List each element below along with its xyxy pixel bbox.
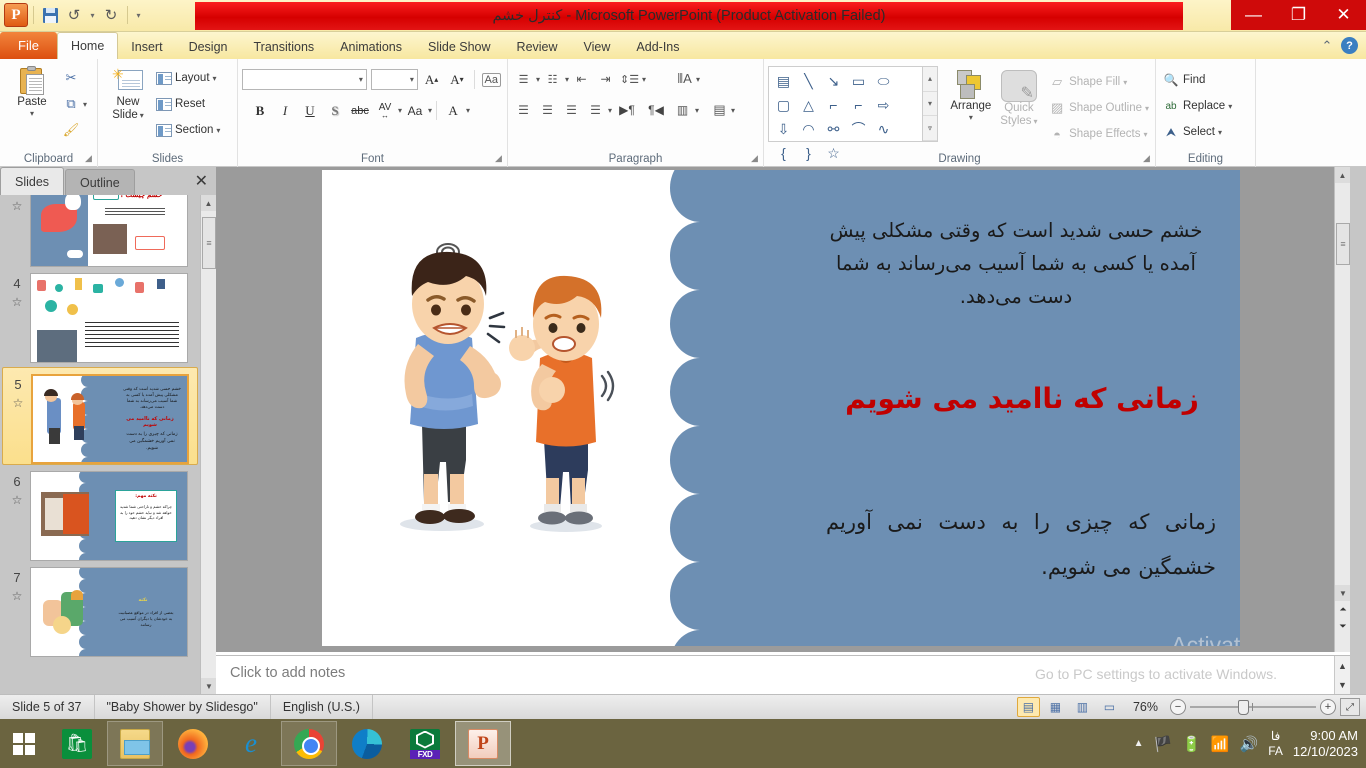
tab-slides[interactable]: Slides xyxy=(0,167,64,195)
paragraph-dialog-launcher[interactable]: ◢ xyxy=(749,153,760,164)
shape-outline-button[interactable]: ▨Shape Outline▾ xyxy=(1046,95,1151,121)
ribbon: Paste ▾ ✂ ⧉▾ 🖌 Clipboard ◢ ✳ New Slide xyxy=(0,59,1366,167)
clock-date: 12/10/2023 xyxy=(1293,744,1358,760)
quick-styles-button[interactable]: Quick Styles ▾ xyxy=(996,66,1042,128)
replace-icon: ab xyxy=(1162,97,1180,115)
change-case-button[interactable]: Aa xyxy=(403,99,427,122)
center-button[interactable]: ☰ xyxy=(536,99,559,121)
font-color-label: A xyxy=(448,103,457,119)
font-name-input[interactable]: ▾ xyxy=(242,69,367,90)
ltr-button[interactable]: ▶¶ xyxy=(613,99,641,121)
slide-vertical-scrollbar[interactable]: ▲ ≡ ▼ ⏶ ⏷ xyxy=(1334,167,1350,652)
shape-cloud-icon[interactable]: ◠ xyxy=(796,117,821,141)
notes-scroll-down[interactable]: ▼ xyxy=(1335,675,1350,694)
slide-index-label: 4 xyxy=(4,276,30,291)
language-label[interactable]: English (U.S.) xyxy=(271,695,373,720)
fit-slide-to-window-button[interactable]: ⤢ xyxy=(1340,698,1360,716)
shapes-more[interactable]: ⩔ xyxy=(923,116,937,141)
tab-review[interactable]: Review xyxy=(504,34,571,59)
clear-formatting-button[interactable]: Aa xyxy=(480,68,503,91)
thumbnail-canvas: نکته مهم: چراکه خشم و ناراحتی شما شدید خ… xyxy=(30,471,188,561)
powerpoint-icon: P xyxy=(468,729,498,759)
save-button[interactable] xyxy=(39,4,61,26)
signal-icon[interactable]: 📶 xyxy=(1211,735,1230,753)
ribbon-group-editing: 🔍Find abReplace▾ ⮝Select▾ Editing xyxy=(1156,59,1256,167)
bullets-caret[interactable]: ▾ xyxy=(536,75,540,84)
slide-thumbnail-5[interactable]: 5 ☆ خشم حسی شدید است که وقتی xyxy=(2,367,198,465)
clock[interactable]: 9:00 AM 12/10/2023 xyxy=(1293,728,1358,760)
new-slide-button[interactable]: ✳ New Slide ▾ xyxy=(102,62,154,148)
group-label-drawing: Drawing xyxy=(764,153,1155,165)
notes-scroll-up[interactable]: ▲ xyxy=(1335,656,1350,675)
slide-index-label: 7 xyxy=(4,570,30,585)
select-button[interactable]: ⮝Select▾ xyxy=(1160,119,1251,145)
slideshow-view-button[interactable]: ▭ xyxy=(1098,697,1121,717)
clear-formatting-icon: Aa xyxy=(482,73,501,87)
cut-button[interactable]: ✂ xyxy=(60,65,89,91)
increase-indent-icon: ⇥ xyxy=(601,72,611,86)
slide-body-text[interactable]: خشم حسی شدید است که وقتی مشکلی پیش آمده … xyxy=(816,214,1216,313)
shape-effects-button[interactable]: ◓Shape Effects▾ xyxy=(1046,121,1151,147)
show-hidden-icons-button[interactable]: ▲ xyxy=(1134,738,1144,749)
increase-indent-button[interactable]: ⇥ xyxy=(594,68,617,90)
thumbnail-canvas xyxy=(30,273,188,363)
slide-number-3: 3 ☆ xyxy=(4,195,30,213)
scroll-down-button[interactable]: ▼ xyxy=(1335,585,1351,601)
firefox-icon xyxy=(178,729,208,759)
shape-effects-label: Shape Effects xyxy=(1069,128,1140,140)
thumbnail-canvas: خشم حسی شدید است که وقتی مشکلی پیش آمده … xyxy=(31,374,189,464)
reset-button[interactable]: Reset xyxy=(154,91,222,117)
ribbon-group-clipboard: Paste ▾ ✂ ⧉▾ 🖌 Clipboard ◢ xyxy=(0,59,98,167)
window-title-container: کنترل خشم - Microsoft PowerPoint (Produc… xyxy=(0,2,1366,30)
shape-oval-icon[interactable]: ⬭ xyxy=(871,69,896,93)
text-direction-icon: ⦀A xyxy=(677,71,691,87)
tab-add-ins[interactable]: Add-Ins xyxy=(623,34,692,59)
slide-thumbnail-4[interactable]: 4 ☆ xyxy=(0,267,200,363)
shape-elbow-arrow-icon[interactable]: ⌐ xyxy=(846,93,871,117)
redo-button[interactable]: ↻ xyxy=(100,4,122,26)
right-gutter xyxy=(1350,167,1366,694)
shape-fill-caret[interactable]: ▾ xyxy=(1123,78,1127,87)
clock-time: 9:00 AM xyxy=(1293,728,1358,744)
shape-outline-label: Shape Outline xyxy=(1069,102,1142,114)
shape-effects-icon: ◓ xyxy=(1048,125,1066,143)
tab-file[interactable]: File xyxy=(0,32,57,59)
font-dialog-launcher[interactable]: ◢ xyxy=(493,153,504,164)
arrange-label: Arrange xyxy=(950,100,991,113)
undo-button[interactable]: ↺ xyxy=(63,4,85,26)
battery-icon[interactable]: 🔋 xyxy=(1182,735,1201,753)
align-text-icon: ▤ xyxy=(713,102,725,118)
language-native: فا xyxy=(1268,729,1283,744)
slides-scroll-down-button[interactable]: ▼ xyxy=(201,678,217,694)
tab-transitions[interactable]: Transitions xyxy=(240,34,327,59)
align-text-button[interactable]: ▤ xyxy=(708,99,731,121)
align-left-button[interactable]: ☰ xyxy=(512,99,535,121)
shape-textbox-icon[interactable]: ▤ xyxy=(771,69,796,93)
divider xyxy=(33,6,34,24)
windows-logo-icon xyxy=(13,733,35,755)
title-bar: P ↺ ▾ ↻ ▾ کنترل خشم - Microsoft PowerPoi… xyxy=(0,0,1366,32)
previous-slide-button[interactable]: ⏶ xyxy=(1335,601,1351,618)
text-direction-button[interactable]: ⦀A xyxy=(673,68,696,90)
notes-placeholder[interactable]: Click to add notes xyxy=(230,665,345,681)
find-button[interactable]: 🔍Find xyxy=(1160,67,1251,93)
bullets-icon: ☰ xyxy=(519,73,529,86)
minimize-button[interactable]: — xyxy=(1231,0,1276,30)
ribbon-group-drawing: ▤ ╲ ↘ ▭ ⬭ ▢ △ ⌐ ⌐ ⇨ ⇩ ◠ ⚯ ⌒ ∿ xyxy=(764,59,1156,167)
new-slide-label-2: Slide xyxy=(112,109,138,122)
tab-insert[interactable]: Insert xyxy=(118,34,175,59)
clipboard-dialog-launcher[interactable]: ◢ xyxy=(83,153,94,164)
slide-index-label: 5 xyxy=(5,377,31,392)
section-caret[interactable]: ▾ xyxy=(216,126,220,135)
copy-button[interactable]: ⧉▾ xyxy=(60,91,89,117)
shape-triangle-icon[interactable]: △ xyxy=(796,93,821,117)
quick-styles-icon xyxy=(1001,70,1037,102)
ribbon-group-slides: ✳ New Slide ▾ Layout▾ Reset Section▾ Sli… xyxy=(98,59,238,167)
slide-number-6: 6 ☆ xyxy=(4,471,30,507)
shape-fill-button[interactable]: ▱Shape Fill▾ xyxy=(1046,69,1151,95)
shape-fill-icon: ▱ xyxy=(1048,73,1066,91)
group-label-font: Font xyxy=(238,153,507,165)
numbering-caret[interactable]: ▾ xyxy=(565,75,569,84)
numbering-button[interactable]: ☷ xyxy=(541,68,564,90)
status-bar-right: ▤ ▦ ▥ ▭ 76% − + ⤢ xyxy=(1017,697,1366,717)
tab-home[interactable]: Home xyxy=(57,32,118,59)
slide-number-7: 7 ☆ xyxy=(4,567,30,603)
slide-thumbnail-6[interactable]: 6 ☆ نکته مهم: چراکه خشم و ناراحتی شما شد… xyxy=(0,465,200,561)
animation-star-icon: ☆ xyxy=(5,396,31,410)
slides-pane: Slides Outline ✕ 3 ☆ خشم چیست ؟ xyxy=(0,167,216,694)
thumbnail-canvas: نکته بعضی از افراد در مواقع عصبانیت به خ… xyxy=(30,567,188,657)
tab-design[interactable]: Design xyxy=(176,34,241,59)
shape-rectangle-icon[interactable]: ▭ xyxy=(846,69,871,93)
animation-star-icon: ☆ xyxy=(4,295,30,309)
arrange-button[interactable]: Arrange ▾ xyxy=(946,66,996,122)
scroll-up-button[interactable]: ▲ xyxy=(1335,167,1350,183)
zoom-level-label[interactable]: 76% xyxy=(1125,700,1166,714)
font-size-input[interactable]: ▾ xyxy=(371,69,418,90)
columns-icon: ▥ xyxy=(677,103,688,117)
columns-button[interactable]: ▥ xyxy=(671,99,694,121)
italic-button[interactable]: I xyxy=(273,99,297,122)
arrange-caret[interactable]: ▾ xyxy=(969,113,973,122)
chrome-icon xyxy=(294,729,324,759)
shape-rounded-rect-icon[interactable]: ▢ xyxy=(771,93,796,117)
shape-right-arrow-icon[interactable]: ⇨ xyxy=(871,93,896,117)
zoom-out-button[interactable]: − xyxy=(1170,699,1186,715)
slide-number-5: 5 ☆ xyxy=(5,374,31,410)
section-button[interactable]: Section▾ xyxy=(154,117,222,143)
slide-thumbnail-7[interactable]: 7 ☆ نکته بعضی از افراد در مواقع عصبانیت … xyxy=(0,561,200,657)
slide-sorter-button[interactable]: ▦ xyxy=(1044,697,1067,717)
layout-button[interactable]: Layout▾ xyxy=(154,65,222,91)
powerpoint-logo-icon: P xyxy=(4,3,28,27)
replace-label: Replace xyxy=(1183,100,1225,112)
status-bar: Slide 5 of 37 "Baby Shower by Slidesgo" … xyxy=(0,694,1366,719)
align-text-caret[interactable]: ▾ xyxy=(731,106,735,115)
taskbar-item-google-chrome[interactable] xyxy=(281,721,337,766)
close-slides-pane-icon[interactable]: ✕ xyxy=(195,171,208,191)
activate-windows-watermark: Activate Windows xyxy=(1092,632,1240,646)
zoom-in-button[interactable]: + xyxy=(1320,699,1336,715)
grow-font-button[interactable]: A▴ xyxy=(420,68,443,91)
line-spacing-icon: ⇕☰ xyxy=(620,73,639,86)
slide-thumbnail-list: 3 ☆ خشم چیست ؟ xyxy=(0,195,200,694)
divider xyxy=(127,6,128,24)
new-slide-label-1: New xyxy=(116,96,139,109)
taskbar-item-fxd[interactable]: FXD xyxy=(397,721,453,766)
new-slide-icon: ✳ xyxy=(112,66,144,96)
shape-outline-icon: ▨ xyxy=(1048,99,1066,117)
slides-pane-scrollbar[interactable]: ▲ ≡ ▼ xyxy=(200,195,216,694)
normal-view-button[interactable]: ▤ xyxy=(1017,697,1040,717)
line-spacing-caret[interactable]: ▾ xyxy=(642,75,646,84)
layout-caret[interactable]: ▾ xyxy=(213,74,217,83)
shapes-scroll-down[interactable]: ▾ xyxy=(923,92,937,117)
language-indicator[interactable]: فا FA xyxy=(1268,729,1283,759)
reset-label: Reset xyxy=(175,98,205,110)
binoculars-icon: 🔍 xyxy=(1162,71,1180,89)
group-label-slides: Slides xyxy=(98,153,237,165)
notes-scrollbar[interactable]: ▲ ▼ xyxy=(1334,656,1350,695)
paste-label: Paste xyxy=(17,96,46,109)
shapes-gallery-scrollbar[interactable]: ▴ ▾ ⩔ xyxy=(923,66,938,142)
theme-label[interactable]: "Baby Shower by Slidesgo" xyxy=(95,695,271,720)
animation-star-icon: ☆ xyxy=(4,199,30,213)
numbering-icon: ☷ xyxy=(548,73,558,86)
shrink-font-button[interactable]: A▾ xyxy=(445,68,468,91)
slides-pane-tabs: Slides Outline ✕ xyxy=(0,167,216,195)
scissors-icon: ✂ xyxy=(62,69,80,87)
shape-arrow-icon[interactable]: ↘ xyxy=(821,69,846,93)
minimize-ribbon-icon[interactable]: ⌃ xyxy=(1319,38,1335,54)
microsoft-store-icon xyxy=(62,729,92,759)
slide-paragraph-text[interactable]: زمانی که چیزی را به دست نمی آوریم خشمگین… xyxy=(826,500,1216,590)
fxd-icon: FXD xyxy=(410,729,440,759)
two-angry-boys-illustration xyxy=(370,226,670,556)
font-color-button[interactable]: A xyxy=(441,99,465,122)
text-shadow-button[interactable]: S xyxy=(323,99,347,122)
internet-explorer-icon: e xyxy=(236,729,266,759)
slide-number-4: 4 ☆ xyxy=(4,273,30,309)
save-icon xyxy=(43,8,58,23)
slide-wave-edge xyxy=(670,170,730,646)
rtl-button[interactable]: ¶◀ xyxy=(642,99,670,121)
ribbon-group-paragraph: ☰ ▾ ☷ ▾ ⇤ ⇥ ⇕☰ ▾ ⦀A ▾ ☰ ☰ ☰ xyxy=(508,59,764,167)
grow-font-label: A xyxy=(425,72,434,88)
taskbar-item-microsoft-edge[interactable] xyxy=(339,721,395,766)
layout-label: Layout xyxy=(175,72,210,84)
slide-editing-area: خشم حسی شدید است که وقتی مشکلی پیش آمده … xyxy=(216,167,1350,652)
scrollbar-thumb[interactable]: ≡ xyxy=(1336,223,1350,265)
replace-caret[interactable]: ▾ xyxy=(1228,102,1232,111)
justify-caret[interactable]: ▾ xyxy=(608,106,612,115)
center-icon: ☰ xyxy=(542,103,553,117)
text-direction-caret[interactable]: ▾ xyxy=(696,75,700,84)
shapes-scroll-up[interactable]: ▴ xyxy=(923,67,937,92)
line-spacing-button[interactable]: ⇕☰ xyxy=(618,68,641,90)
slide-heading-red[interactable]: زمانی که ناامید می شویم xyxy=(822,382,1222,415)
replace-button[interactable]: abReplace▾ xyxy=(1160,93,1251,119)
shape-curve-icon[interactable]: ⌒ xyxy=(846,117,871,141)
thumbnail-canvas: خشم چیست ؟ xyxy=(30,195,188,267)
strikethrough-button[interactable]: abc xyxy=(348,99,372,122)
reading-view-button[interactable]: ▥ xyxy=(1071,697,1094,717)
drawing-dialog-launcher[interactable]: ◢ xyxy=(1141,153,1152,164)
format-painter-button[interactable]: 🖌 xyxy=(60,117,89,143)
quick-styles-label-1: Quick xyxy=(1004,102,1033,115)
taskbar-item-microsoft-store[interactable] xyxy=(49,721,105,766)
character-spacing-caret[interactable]: ▾ xyxy=(398,106,402,115)
shape-effects-caret[interactable]: ▾ xyxy=(1144,130,1148,139)
ribbon-group-font: ▾ ▾ A▴ A▾ Aa B I U S abc xyxy=(238,59,508,167)
paste-icon xyxy=(17,66,47,96)
undo-dropdown-caret[interactable]: ▾ xyxy=(87,11,98,20)
network-error-icon[interactable]: 🏴 xyxy=(1154,735,1173,753)
customize-qat-caret[interactable]: ▾ xyxy=(133,11,144,20)
restore-button[interactable]: ❐ xyxy=(1276,0,1321,30)
paste-button[interactable]: Paste ▾ xyxy=(4,62,60,148)
help-icon[interactable]: ? xyxy=(1341,37,1358,54)
taskbar-item-firefox[interactable] xyxy=(165,721,221,766)
find-label: Find xyxy=(1183,74,1205,86)
taskbar-item-powerpoint[interactable]: P xyxy=(455,721,511,766)
layout-icon xyxy=(156,72,172,85)
current-slide[interactable]: خشم حسی شدید است که وقتی مشکلی پیش آمده … xyxy=(322,170,1240,646)
taskbar-item-file-explorer[interactable] xyxy=(107,721,163,766)
tab-slide-show[interactable]: Slide Show xyxy=(415,34,504,59)
group-label-paragraph: Paragraph xyxy=(508,153,763,165)
zoom-slider-handle[interactable] xyxy=(1238,700,1249,715)
shape-line-icon[interactable]: ╲ xyxy=(796,69,821,93)
next-slide-button[interactable]: ⏷ xyxy=(1335,618,1351,635)
window-title: کنترل خشم - Microsoft PowerPoint (Produc… xyxy=(195,2,1183,30)
select-label: Select xyxy=(1183,126,1215,138)
slide-thumbnail-3[interactable]: 3 ☆ خشم چیست ؟ xyxy=(0,195,200,267)
character-spacing-button[interactable]: AV↔ xyxy=(373,99,397,122)
cursor-icon: ⮝ xyxy=(1162,123,1180,141)
language-code: FA xyxy=(1268,744,1283,759)
system-tray: ▲ 🏴 🔋 📶 🔊 فا FA 9:00 AM 12/10/2023 xyxy=(1134,728,1366,760)
align-right-icon: ☰ xyxy=(566,103,577,117)
select-caret[interactable]: ▾ xyxy=(1218,128,1222,137)
slide-count-label[interactable]: Slide 5 of 37 xyxy=(0,695,95,720)
slides-scrollbar-thumb[interactable]: ≡ xyxy=(202,217,216,269)
justify-button[interactable]: ☰ xyxy=(584,99,607,121)
close-button[interactable]: ✕ xyxy=(1321,0,1366,30)
shape-down-arrow-icon[interactable]: ⇩ xyxy=(771,117,796,141)
file-explorer-icon xyxy=(120,729,150,759)
underline-button[interactable]: U xyxy=(298,99,322,122)
notes-pane[interactable]: Click to add notes Go to PC settings to … xyxy=(216,655,1350,694)
decrease-indent-icon: ⇤ xyxy=(577,72,587,86)
start-button[interactable] xyxy=(0,719,48,768)
taskbar-item-internet-explorer[interactable]: e xyxy=(223,721,279,766)
arrange-icon xyxy=(955,70,987,100)
shape-freeform-icon[interactable]: ∿ xyxy=(871,117,896,141)
animation-star-icon: ☆ xyxy=(4,493,30,507)
bullets-button[interactable]: ☰ xyxy=(512,68,535,90)
slide-index-label: 6 xyxy=(4,474,30,489)
font-color-caret[interactable]: ▾ xyxy=(466,106,470,115)
copy-icon: ⧉ xyxy=(62,95,80,113)
volume-icon[interactable]: 🔊 xyxy=(1240,735,1259,753)
slides-scroll-up-button[interactable]: ▲ xyxy=(201,195,216,211)
paintbrush-icon: 🖌 xyxy=(62,121,80,139)
shape-outline-caret[interactable]: ▾ xyxy=(1145,104,1149,113)
change-case-caret[interactable]: ▾ xyxy=(428,106,432,115)
font-size-caret[interactable]: ▾ xyxy=(410,75,414,84)
font-name-caret[interactable]: ▾ xyxy=(359,75,363,84)
tab-view[interactable]: View xyxy=(571,34,624,59)
ribbon-tab-bar: File Home Insert Design Transitions Anim… xyxy=(0,32,1366,59)
tab-outline[interactable]: Outline xyxy=(65,169,135,195)
activate-windows-subtext: Go to PC settings to activate Windows. xyxy=(986,666,1326,682)
quick-styles-label-2: Styles xyxy=(1000,115,1031,128)
group-label-editing: Editing xyxy=(1156,153,1255,165)
shapes-gallery[interactable]: ▤ ╲ ↘ ▭ ⬭ ▢ △ ⌐ ⌐ ⇨ ⇩ ◠ ⚯ ⌒ ∿ xyxy=(768,66,923,142)
bold-button[interactable]: B xyxy=(248,99,272,122)
quick-access-toolbar: P ↺ ▾ ↻ ▾ xyxy=(4,2,144,28)
new-slide-caret[interactable]: ▾ xyxy=(140,109,144,122)
reset-icon xyxy=(156,98,172,111)
shape-scribble-icon[interactable]: ⚯ xyxy=(821,117,846,141)
powerpoint-window: P ↺ ▾ ↻ ▾ کنترل خشم - Microsoft PowerPoi… xyxy=(0,0,1366,768)
paste-caret[interactable]: ▾ xyxy=(30,109,34,118)
copy-caret[interactable]: ▾ xyxy=(83,100,87,109)
shape-elbow-connector-icon[interactable]: ⌐ xyxy=(821,93,846,117)
justify-icon: ☰ xyxy=(590,103,601,117)
section-label: Section xyxy=(175,124,213,136)
animation-star-icon: ☆ xyxy=(4,589,30,603)
quick-styles-caret[interactable]: ▾ xyxy=(1034,115,1038,128)
shrink-font-label: A xyxy=(450,72,459,88)
columns-caret[interactable]: ▾ xyxy=(695,106,699,115)
tab-animations[interactable]: Animations xyxy=(327,34,415,59)
align-right-button[interactable]: ☰ xyxy=(560,99,583,121)
edge-icon xyxy=(352,729,382,759)
window-controls: — ❐ ✕ xyxy=(1231,0,1366,32)
shape-fill-label: Shape Fill xyxy=(1069,76,1120,88)
align-left-icon: ☰ xyxy=(518,103,529,117)
windows-taskbar: e FXD P ▲ 🏴 🔋 📶 🔊 فا FA 9:00 AM 12/10/20… xyxy=(0,719,1366,768)
decrease-indent-button[interactable]: ⇤ xyxy=(570,68,593,90)
zoom-slider[interactable] xyxy=(1190,699,1316,715)
ribbon-tab-bar-right: ⌃ ? xyxy=(1319,32,1366,59)
section-icon xyxy=(156,124,172,137)
